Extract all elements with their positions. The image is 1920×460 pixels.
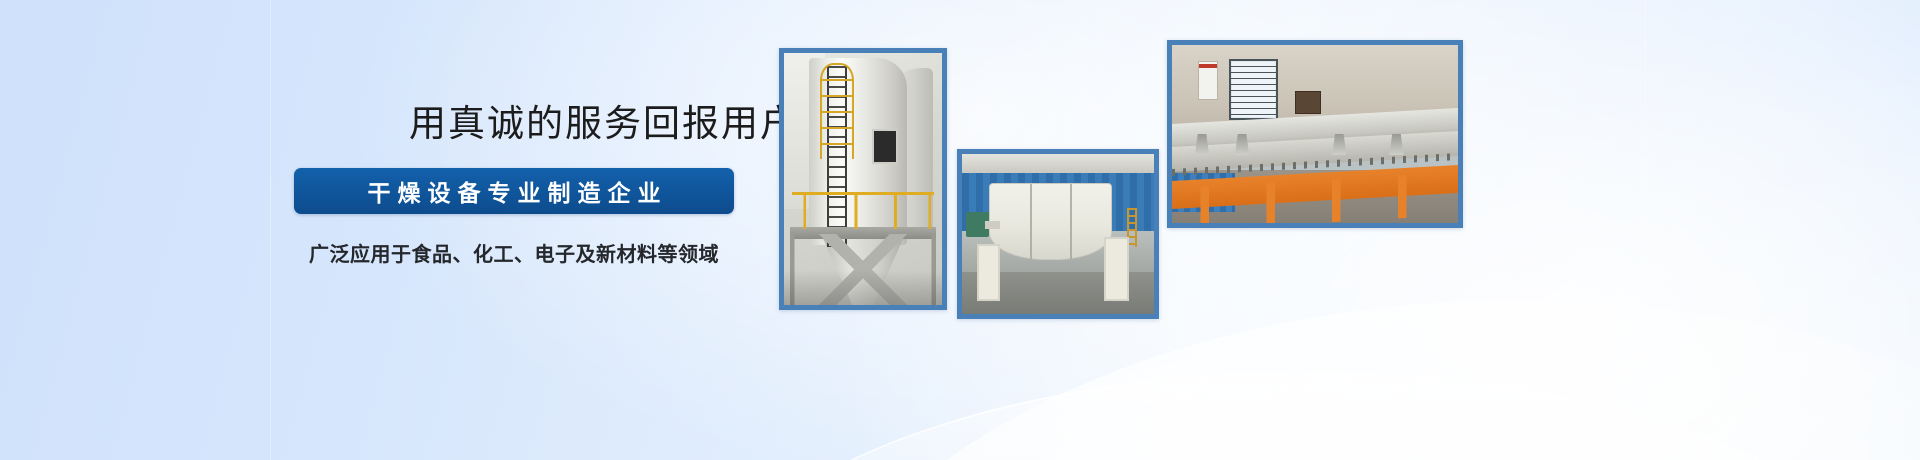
background-stripe	[1645, 0, 1646, 460]
background-stripe	[270, 0, 271, 460]
fluid-bed-dryer-scene	[1172, 45, 1458, 223]
mixer-leg-right	[1104, 237, 1129, 301]
floor-shadow	[784, 270, 942, 305]
mixer-leg-left	[977, 244, 1000, 302]
banner-badge-label: 干燥设备专业制造企业	[361, 174, 668, 208]
ceiling-beam	[962, 154, 1154, 173]
photo-spray-dryer-tower	[779, 48, 947, 310]
photo-ribbon-mixer	[957, 149, 1159, 319]
window	[1229, 59, 1278, 120]
background-swoosh-primary	[770, 300, 1920, 460]
yellow-handrail	[792, 192, 934, 230]
banner-badge: 干燥设备专业制造企业	[294, 168, 734, 214]
ladder-safety-cage	[820, 63, 853, 159]
banner-subtitle: 广泛应用于食品、化工、电子及新材料等领域	[294, 238, 734, 267]
control-box	[1295, 91, 1321, 114]
photo-fluid-bed-dryer	[1167, 40, 1463, 228]
ribbon-mixer-scene	[962, 154, 1154, 314]
background-glow-right	[1420, 40, 1920, 460]
spray-dryer-scene	[784, 53, 942, 305]
background-swoosh-arc	[680, 372, 1920, 460]
wall-sign	[1198, 61, 1218, 100]
promo-banner: 用真诚的服务回报用户 干燥设备专业制造企业 广泛应用于食品、化工、电子及新材料等…	[0, 0, 1920, 460]
inspection-hatch	[872, 129, 897, 164]
mixer-drum	[989, 183, 1112, 260]
drive-shaft	[985, 221, 1000, 229]
